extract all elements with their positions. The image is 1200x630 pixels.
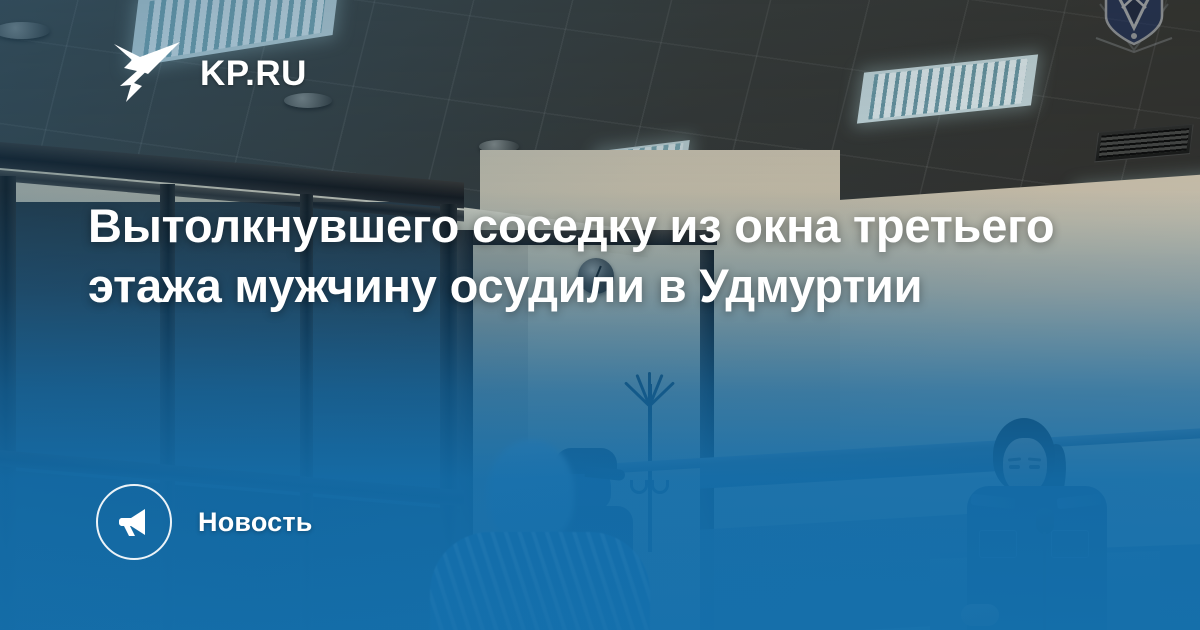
swallow-bird-icon <box>112 40 182 106</box>
card-content: KP.RU Вытолкнувшего соседку из окна трет… <box>0 0 1200 630</box>
page-title: Вытолкнувшего соседку из окна третьего э… <box>88 196 1068 316</box>
investigative-committee-shield-emblem <box>1076 0 1192 56</box>
brand-logo[interactable]: KP.RU <box>112 40 307 106</box>
social-share-card: KP.RU Вытолкнувшего соседку из окна трет… <box>0 0 1200 630</box>
brand-name: KP.RU <box>200 56 307 91</box>
status-badge-label: Новость <box>198 507 313 538</box>
megaphone-icon <box>96 484 172 560</box>
status-badge[interactable]: Новость <box>96 484 313 560</box>
